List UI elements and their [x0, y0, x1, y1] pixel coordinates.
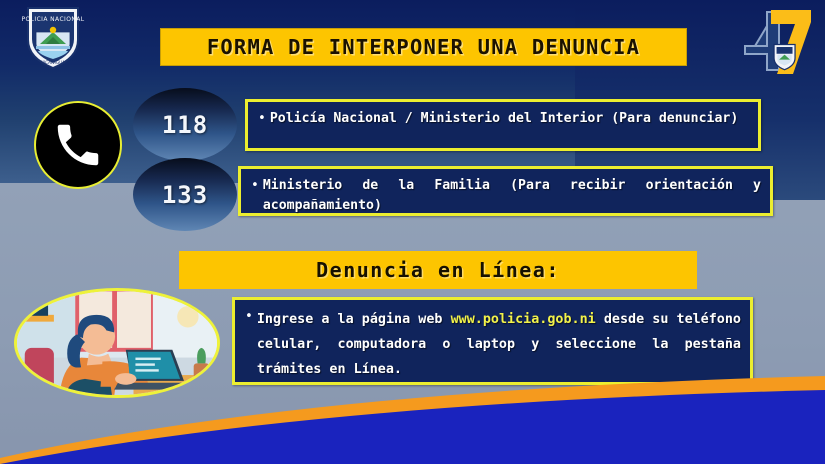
- bullet-marker: •: [256, 109, 270, 141]
- info-box-118-text: Policía Nacional / Ministerio del Interi…: [270, 109, 749, 141]
- slide-title-banner: FORMA DE INTERPONER UNA DENUNCIA: [160, 28, 687, 66]
- emergency-number-118: 118: [162, 111, 208, 139]
- decorative-wave: [0, 354, 825, 464]
- anniversary-47-logo: [735, 4, 817, 80]
- denuncia-en-linea-heading: Denuncia en Línea:: [316, 258, 560, 282]
- info-box-133: • Ministerio de la Familia (Para recibir…: [238, 166, 773, 216]
- policia-nacional-emblem: POLICIA NACIONAL NICARAGUA: [16, 2, 90, 72]
- svg-text:NICARAGUA: NICARAGUA: [41, 60, 65, 65]
- info-box-118: • Policía Nacional / Ministerio del Inte…: [245, 99, 761, 151]
- emergency-number-oval-118: 118: [133, 88, 237, 161]
- page-title: FORMA DE INTERPONER UNA DENUNCIA: [207, 35, 640, 59]
- policia-website-url[interactable]: www.policia.gob.ni: [451, 312, 596, 327]
- denuncia-en-linea-banner: Denuncia en Línea:: [179, 251, 697, 289]
- phone-icon: [34, 101, 122, 189]
- svg-text:POLICIA NACIONAL: POLICIA NACIONAL: [22, 16, 85, 23]
- bullet-marker: •: [249, 176, 263, 206]
- emergency-number-133: 133: [162, 181, 208, 209]
- emergency-number-oval-133: 133: [133, 158, 237, 231]
- info-box-133-text: Ministerio de la Familia (Para recibir o…: [263, 176, 761, 206]
- slide-canvas: POLICIA NACIONAL NICARAGUA FORMA DE INTE…: [0, 0, 825, 464]
- text-before-url: Ingrese a la página web: [257, 312, 451, 327]
